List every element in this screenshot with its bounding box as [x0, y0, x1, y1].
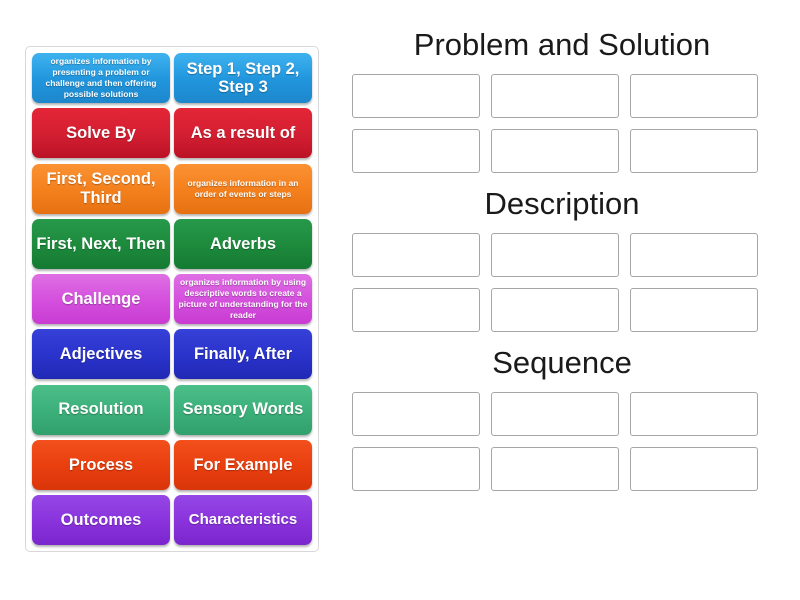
draggable-tile[interactable]: Resolution [32, 385, 170, 435]
drop-slot[interactable] [630, 74, 758, 118]
drop-slot[interactable] [352, 392, 480, 436]
drop-slot[interactable] [352, 447, 480, 491]
tile-row: ResolutionSensory Words [32, 385, 312, 435]
category-title: Problem and Solution [352, 28, 772, 62]
tile-tray: organizes information by presenting a pr… [25, 46, 319, 552]
category-title: Description [352, 187, 772, 221]
draggable-tile[interactable]: Sensory Words [174, 385, 312, 435]
category-title: Sequence [352, 346, 772, 380]
tile-row: organizes information by presenting a pr… [32, 53, 312, 103]
drop-slot[interactable] [630, 447, 758, 491]
tile-row: ProcessFor Example [32, 440, 312, 490]
tile-row: Challengeorganizes information by using … [32, 274, 312, 324]
draggable-tile[interactable]: Process [32, 440, 170, 490]
drop-slot[interactable] [352, 74, 480, 118]
drop-slot-grid [352, 74, 772, 173]
category-list: Problem and SolutionDescriptionSequence [352, 28, 772, 568]
category-group: Sequence [352, 346, 772, 491]
draggable-tile[interactable]: organizes information by using descripti… [174, 274, 312, 324]
tile-row: First, Next, ThenAdverbs [32, 219, 312, 269]
draggable-tile[interactable]: Step 1, Step 2, Step 3 [174, 53, 312, 103]
tile-row: OutcomesCharacteristics [32, 495, 312, 545]
drop-slot[interactable] [491, 447, 619, 491]
draggable-tile[interactable]: Adjectives [32, 329, 170, 379]
draggable-tile[interactable]: Finally, After [174, 329, 312, 379]
tile-row: AdjectivesFinally, After [32, 329, 312, 379]
tile-row: Solve ByAs a result of [32, 108, 312, 158]
drop-slot[interactable] [630, 288, 758, 332]
drop-slot-grid [352, 392, 772, 491]
drop-slot[interactable] [630, 129, 758, 173]
draggable-tile[interactable]: First, Next, Then [32, 219, 170, 269]
draggable-tile[interactable]: As a result of [174, 108, 312, 158]
draggable-tile[interactable]: For Example [174, 440, 312, 490]
drop-slot[interactable] [491, 74, 619, 118]
tile-row: First, Second, Thirdorganizes informatio… [32, 164, 312, 214]
drop-slot[interactable] [630, 233, 758, 277]
drop-slot-grid [352, 233, 772, 332]
drop-slot[interactable] [491, 233, 619, 277]
draggable-tile[interactable]: Adverbs [174, 219, 312, 269]
draggable-tile[interactable]: First, Second, Third [32, 164, 170, 214]
group-sort-activity: organizes information by presenting a pr… [0, 0, 800, 600]
draggable-tile[interactable]: Challenge [32, 274, 170, 324]
draggable-tile[interactable]: Characteristics [174, 495, 312, 545]
drop-slot[interactable] [352, 233, 480, 277]
drop-slot[interactable] [491, 288, 619, 332]
drop-slot[interactable] [352, 129, 480, 173]
draggable-tile[interactable]: Outcomes [32, 495, 170, 545]
drop-slot[interactable] [491, 129, 619, 173]
drop-slot[interactable] [491, 392, 619, 436]
drop-slot[interactable] [630, 392, 758, 436]
draggable-tile[interactable]: Solve By [32, 108, 170, 158]
draggable-tile[interactable]: organizes information in an order of eve… [174, 164, 312, 214]
category-group: Problem and Solution [352, 28, 772, 173]
draggable-tile[interactable]: organizes information by presenting a pr… [32, 53, 170, 103]
category-group: Description [352, 187, 772, 332]
drop-slot[interactable] [352, 288, 480, 332]
